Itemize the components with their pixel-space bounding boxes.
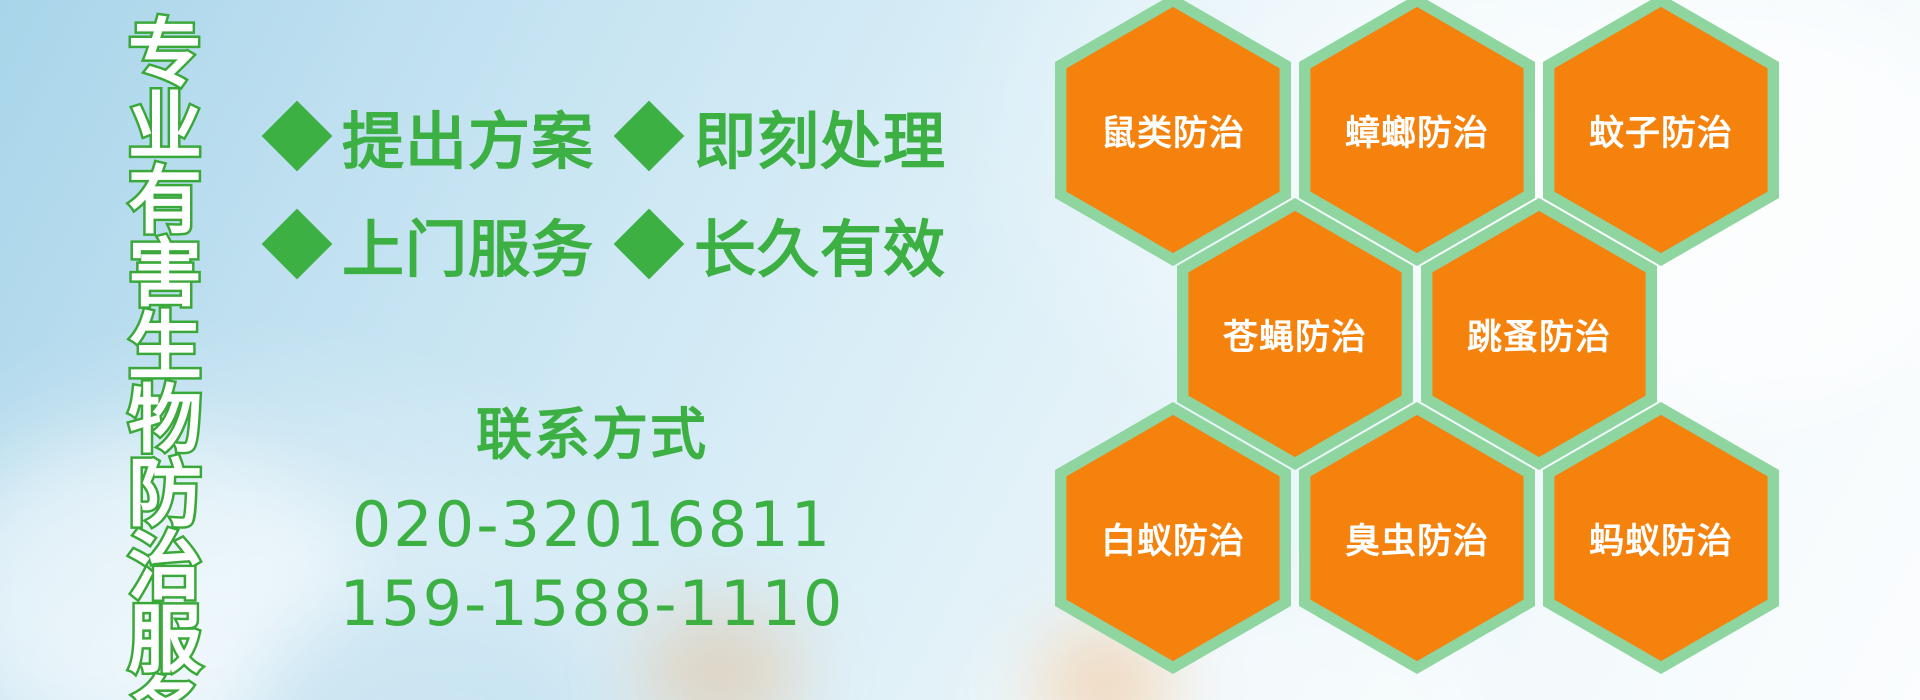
phone-number-mobile[interactable]: 159-1588-1110 xyxy=(272,564,912,643)
headline-char: 生 xyxy=(128,311,202,384)
headline-char: 业 xyxy=(128,91,202,164)
diamond-bullet-icon xyxy=(262,209,333,280)
feature-list: 提出方案 即刻处理 上门服务 长久有效 xyxy=(272,82,872,298)
service-label: 臭虫防治 xyxy=(1299,402,1535,674)
service-hexagon-grid: 鼠类防治 蟑螂防治 蚊子防治 苍蝇防治 跳蚤防治 白蚁防治 xyxy=(1055,2,1775,698)
diamond-bullet-icon xyxy=(614,101,685,172)
feature-item-onsite-service: 上门服务 xyxy=(272,199,594,289)
service-label: 蚂蚁防治 xyxy=(1543,402,1779,674)
phone-number-landline[interactable]: 020-32016811 xyxy=(272,485,912,564)
diamond-bullet-icon xyxy=(614,209,685,280)
service-label: 白蚁防治 xyxy=(1055,402,1291,674)
vertical-headline: 专 业 有 害 生 物 防 治 服 务 xyxy=(112,18,218,686)
feature-item-propose-plan: 提出方案 xyxy=(272,91,594,181)
feature-label: 即刻处理 xyxy=(694,91,946,181)
headline-char: 有 xyxy=(128,165,202,238)
headline-char: 防 xyxy=(128,458,202,531)
service-hex-termite[interactable]: 白蚁防治 xyxy=(1055,402,1291,674)
headline-char: 专 xyxy=(128,18,202,91)
feature-label: 上门服务 xyxy=(342,199,594,289)
feature-item-long-lasting: 长久有效 xyxy=(624,199,946,289)
diamond-bullet-icon xyxy=(262,101,333,172)
headline-char: 害 xyxy=(128,238,202,311)
feature-row: 上门服务 长久有效 xyxy=(272,190,872,298)
feature-label: 长久有效 xyxy=(694,199,946,289)
feature-item-immediate-handling: 即刻处理 xyxy=(624,91,946,181)
service-hex-bedbug[interactable]: 臭虫防治 xyxy=(1299,402,1535,674)
headline-char: 务 xyxy=(128,677,202,700)
service-hex-ant[interactable]: 蚂蚁防治 xyxy=(1543,402,1779,674)
feature-label: 提出方案 xyxy=(342,91,594,181)
contact-title: 联系方式 xyxy=(272,390,912,471)
feature-row: 提出方案 即刻处理 xyxy=(272,82,872,190)
headline-char: 服 xyxy=(128,604,202,677)
headline-char: 物 xyxy=(128,384,202,457)
headline-char: 治 xyxy=(128,531,202,604)
contact-block: 联系方式 020-32016811 159-1588-1110 xyxy=(272,390,912,644)
promo-banner: 专 业 有 害 生 物 防 治 服 务 提出方案 即刻处理 上门服务 xyxy=(0,0,1920,700)
